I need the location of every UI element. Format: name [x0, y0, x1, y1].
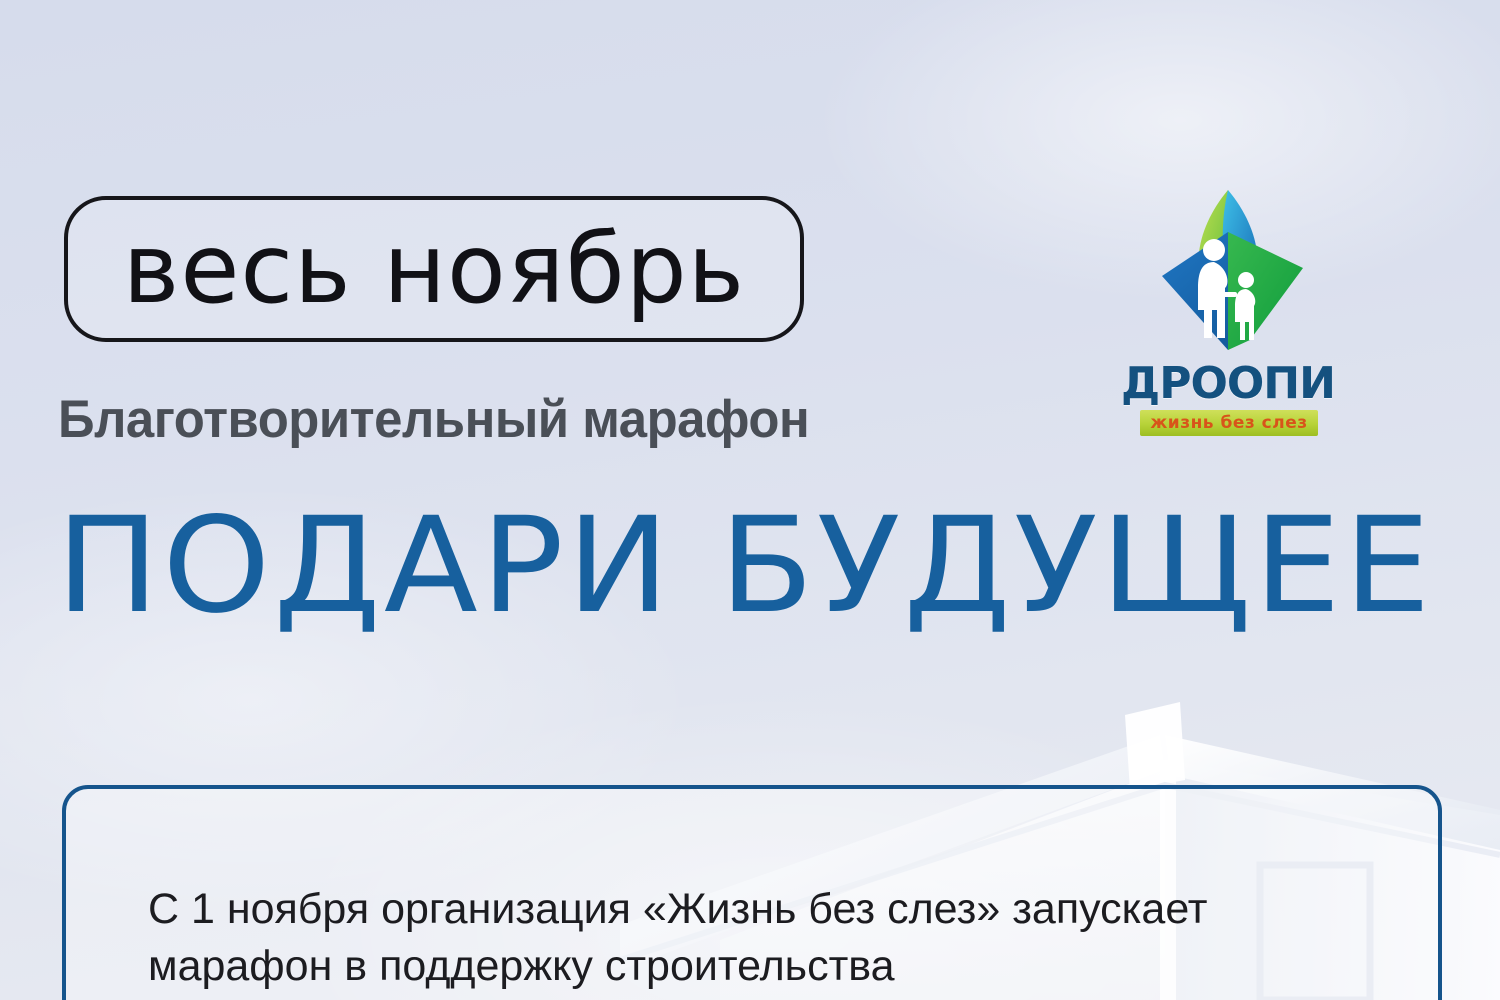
- month-badge: весь ноябрь: [64, 196, 804, 342]
- logo-tagline-ribbon: жизнь без слез: [1140, 410, 1318, 436]
- info-card-body: С 1 ноября организация «Жизнь без слез» …: [148, 881, 1388, 995]
- logo-tagline: жизнь без слез: [1150, 415, 1307, 432]
- family-diamond-logo-icon: [1118, 172, 1338, 372]
- month-badge-label: весь ноябрь: [123, 221, 745, 317]
- info-card: С 1 ноября организация «Жизнь без слез» …: [62, 785, 1442, 1000]
- droopi-logo: ДРООПИ жизнь без слез: [1118, 172, 1338, 454]
- subtitle: Благотворительный марафон: [58, 393, 809, 446]
- page-title: ПОДАРИ БУДУЩЕЕ: [56, 500, 1500, 632]
- logo-wordmark: ДРООПИ: [1118, 362, 1338, 406]
- poster-canvas: весь ноябрь Благотворительный марафон ПО…: [0, 0, 1500, 1000]
